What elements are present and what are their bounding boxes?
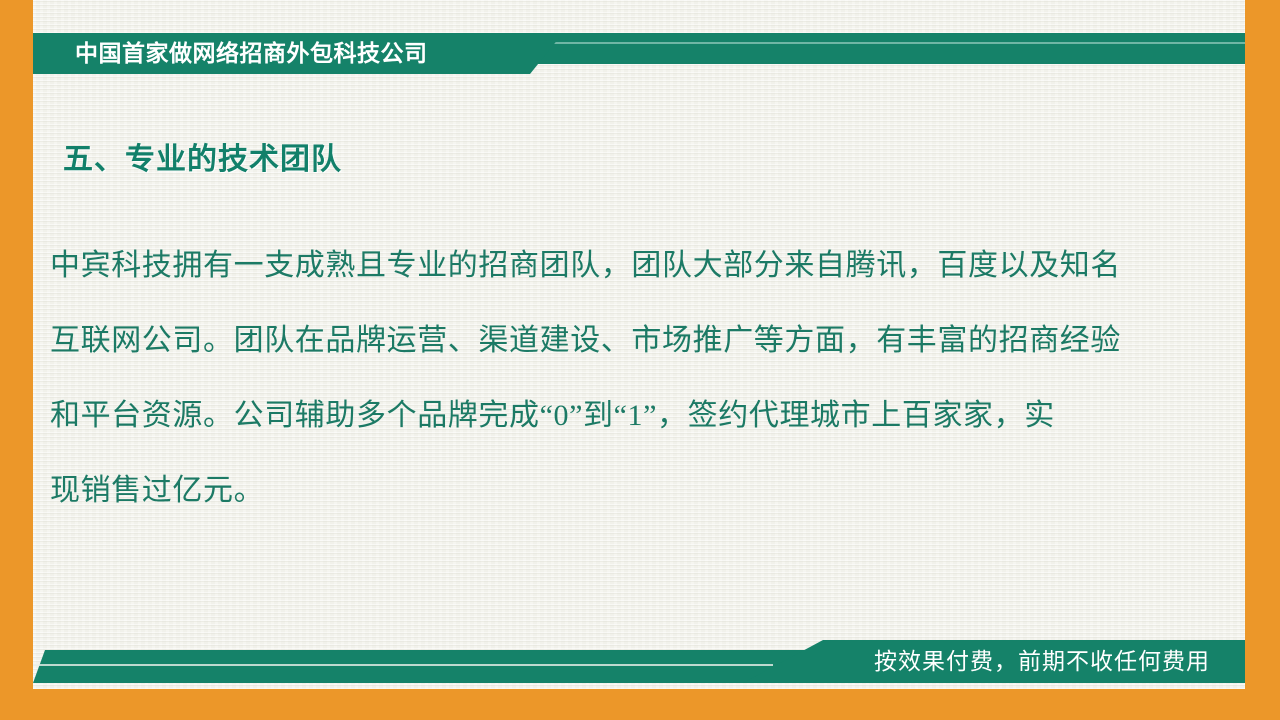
footer-slogan: 按效果付费，前期不收任何费用 bbox=[874, 640, 1210, 683]
header-hairline-divider bbox=[541, 42, 1245, 44]
footer-hairline-divider bbox=[33, 664, 773, 666]
footer-banner: 按效果付费，前期不收任何费用 bbox=[33, 640, 1245, 689]
body-line: 和平台资源。公司辅助多个品牌完成“0”到“1”，签约代理城市上百家家，实 bbox=[50, 378, 1190, 453]
section-heading: 五、专业的技术团队 bbox=[63, 134, 342, 178]
footer-slogan-block: 按效果付费，前期不收任何费用 bbox=[743, 640, 1245, 683]
body-line: 中宾科技拥有一支成熟且专业的招商团队，团队大部分来自腾讯，百度以及知名 bbox=[50, 228, 1190, 303]
header-banner: 中国首家做网络招商外包科技公司 bbox=[33, 33, 1245, 74]
header-title-block: 中国首家做网络招商外包科技公司 bbox=[33, 33, 563, 74]
body-line: 现销售过亿元。 bbox=[50, 453, 1190, 528]
body-line: 互联网公司。团队在品牌运营、渠道建设、市场推广等方面，有丰富的招商经验 bbox=[50, 303, 1190, 378]
slide-canvas: 中国首家做网络招商外包科技公司 五、专业的技术团队 中宾科技拥有一支成熟且专业的… bbox=[0, 0, 1280, 720]
body-copy: 中宾科技拥有一支成熟且专业的招商团队，团队大部分来自腾讯，百度以及知名 互联网公… bbox=[50, 228, 1190, 528]
header-title: 中国首家做网络招商外包科技公司 bbox=[75, 33, 428, 74]
